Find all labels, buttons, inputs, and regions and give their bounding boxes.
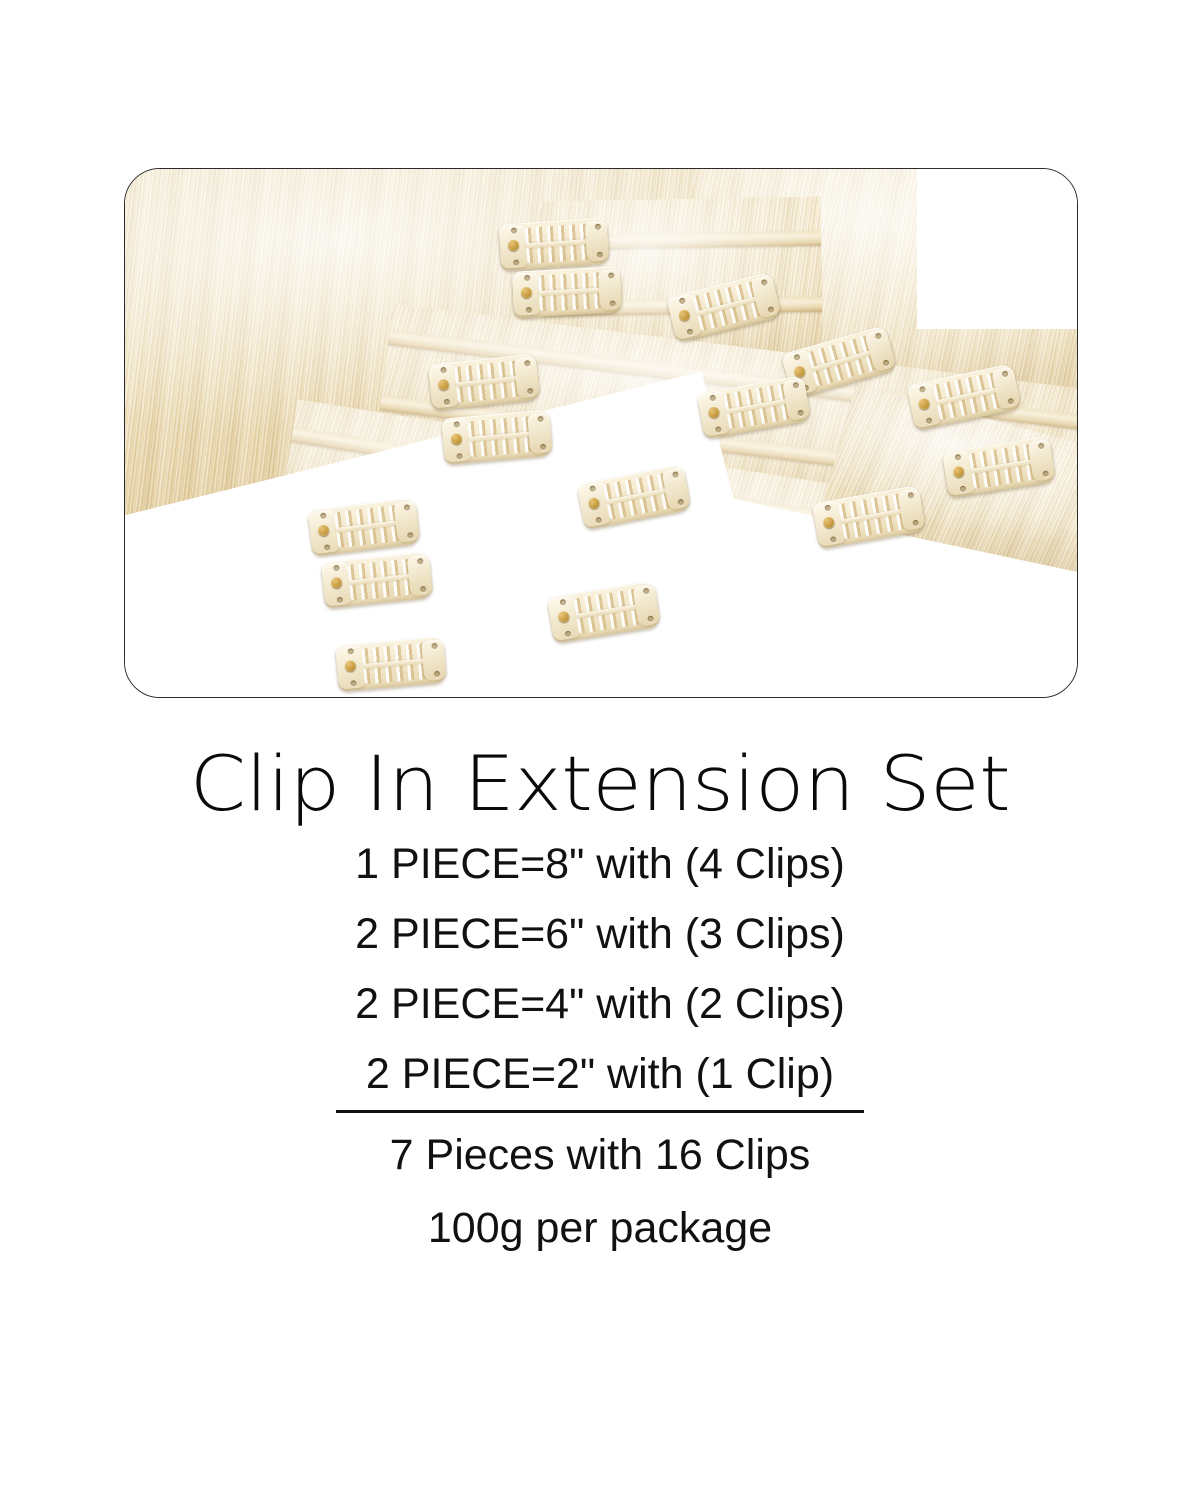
weight-line: 100g per package: [0, 1207, 1200, 1250]
spec-line: 2 PIECE=4" with (2 Clips): [0, 983, 1200, 1026]
title-section: Clip In Extension Set: [0, 746, 1200, 822]
product-image-card: [124, 168, 1078, 698]
spec-line: 1 PIECE=8" with (4 Clips): [0, 843, 1200, 886]
photo-backdrop-mask: [917, 169, 1077, 329]
product-photo: [125, 169, 1077, 697]
hair-clip: [441, 409, 553, 464]
hair-clip: [512, 266, 622, 318]
hair-clip: [335, 636, 447, 691]
spec-divider: [336, 1110, 864, 1113]
spec-line: 2 PIECE=2" with (1 Clip): [0, 1053, 1200, 1096]
spec-line: 2 PIECE=6" with (3 Clips): [0, 913, 1200, 956]
hair-clip: [499, 217, 610, 270]
page-title: Clip In Extension Set: [0, 746, 1200, 822]
specification-list: 1 PIECE=8" with (4 Clips) 2 PIECE=6" wit…: [0, 843, 1200, 1280]
total-pieces-line: 7 Pieces with 16 Clips: [0, 1134, 1200, 1177]
